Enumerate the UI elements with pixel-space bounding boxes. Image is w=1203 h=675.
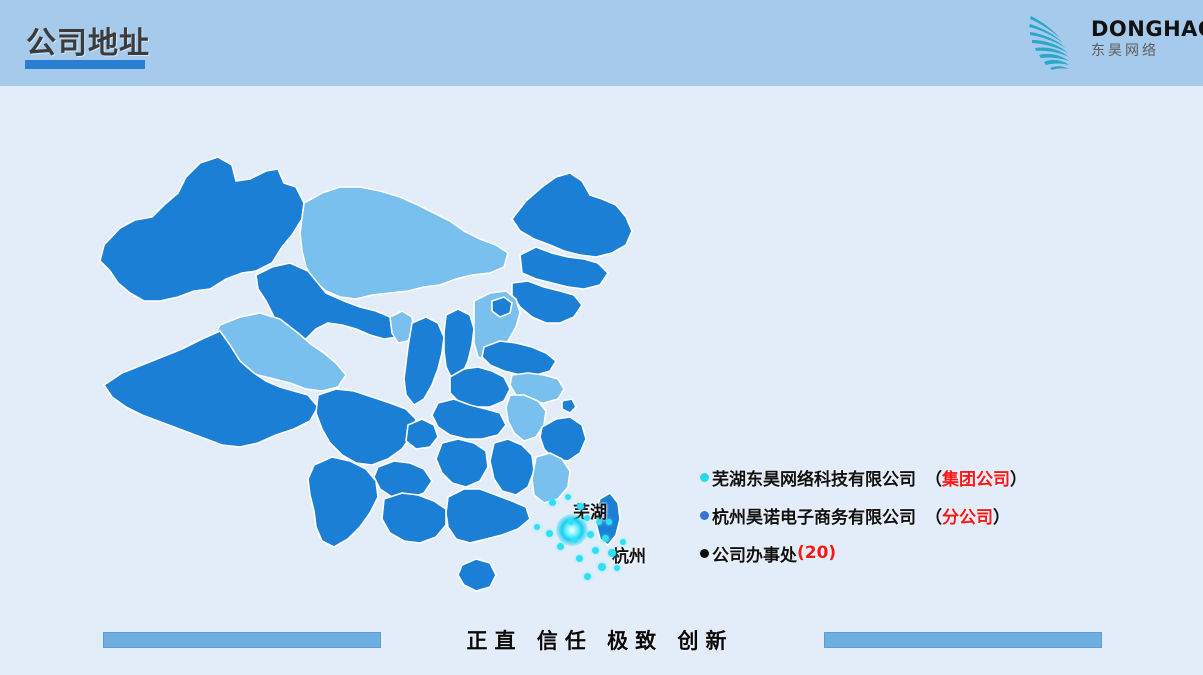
- province-guangdong: [446, 489, 530, 543]
- logo-name: DONGHAO: [1091, 18, 1191, 40]
- province-sichuan: [316, 389, 416, 465]
- legend-label: 杭州昊诺电子商务有限公司: [712, 503, 916, 528]
- legend-accent: 集团公司: [942, 465, 1010, 490]
- province-shandong: [482, 341, 556, 375]
- province-inner-mongolia: [300, 187, 508, 299]
- office-dot[interactable]: [606, 519, 612, 525]
- legend-item-group-company: 芜湖东昊网络科技有限公司 （ 集团公司 ）: [700, 458, 1170, 496]
- legend-bullet-cyan-icon: [700, 473, 709, 482]
- footer-bar-right: [824, 632, 1102, 648]
- legend-paren-close: ）: [1010, 465, 1027, 490]
- province-yunnan: [308, 457, 378, 547]
- header-band: 公司地址 DONGHAO: [0, 0, 1203, 86]
- legend-item-branch-company: 杭州昊诺电子商务有限公司 （ 分公司 ）: [700, 496, 1170, 534]
- legend-label: 芜湖东昊网络科技有限公司: [712, 465, 916, 490]
- china-map-svg: [60, 95, 720, 615]
- office-dot[interactable]: [568, 519, 574, 525]
- province-hunan: [436, 439, 488, 487]
- province-jiangxi: [490, 439, 534, 495]
- province-shaanxi: [404, 317, 444, 405]
- office-dot[interactable]: [598, 563, 606, 571]
- logo-text-block: DONGHAO 东昊网络: [1091, 18, 1191, 61]
- legend-paren-open: （: [925, 503, 942, 528]
- city-label-hangzhou: 杭州: [612, 542, 646, 567]
- footer-slogan: 正直 信任 极致 创新: [450, 625, 750, 655]
- logo-subtitle: 东昊网络: [1091, 41, 1191, 61]
- china-map: 芜湖 杭州: [60, 95, 720, 615]
- office-dot[interactable]: [577, 503, 584, 510]
- office-dot[interactable]: [576, 555, 583, 562]
- legend-accent: (20): [797, 543, 836, 563]
- legend-label: 公司办事处: [712, 541, 797, 566]
- legend-paren-open: （: [925, 465, 942, 490]
- office-dot[interactable]: [596, 519, 602, 525]
- title-underline: [25, 60, 145, 69]
- office-dot[interactable]: [620, 539, 626, 545]
- province-shanghai: [562, 399, 576, 413]
- office-dot[interactable]: [534, 524, 540, 530]
- office-dot[interactable]: [587, 531, 594, 538]
- legend-bullet-blue-icon: [700, 511, 709, 520]
- office-dot[interactable]: [557, 543, 564, 550]
- province-beijing: [492, 297, 512, 317]
- office-dot[interactable]: [614, 565, 620, 571]
- office-dot[interactable]: [584, 515, 590, 521]
- office-dot[interactable]: [572, 537, 578, 543]
- legend-bullet-black-icon: [700, 549, 709, 558]
- fan-wing-logo-icon: [1021, 10, 1089, 74]
- province-heilongjiang: [512, 173, 632, 257]
- office-dot[interactable]: [546, 530, 553, 537]
- province-chongqing: [406, 419, 438, 449]
- legend-accent: 分公司: [942, 503, 993, 528]
- office-dot[interactable]: [602, 535, 609, 542]
- legend-paren-close: ）: [993, 503, 1010, 528]
- office-dot[interactable]: [584, 573, 591, 580]
- province-hainan: [458, 559, 496, 591]
- legend: 芜湖东昊网络科技有限公司 （ 集团公司 ） 杭州昊诺电子商务有限公司 （ 分公司…: [700, 458, 1170, 572]
- office-dot[interactable]: [565, 494, 571, 500]
- footer-bar-left: [103, 632, 381, 648]
- company-logo: DONGHAO 东昊网络: [1021, 8, 1191, 76]
- office-dot[interactable]: [592, 547, 599, 554]
- office-dot[interactable]: [608, 549, 616, 557]
- page-title: 公司地址: [26, 18, 150, 62]
- office-dot[interactable]: [549, 499, 556, 506]
- slide-root: 公司地址 DONGHAO: [0, 0, 1203, 675]
- province-guangxi: [382, 493, 446, 543]
- legend-item-offices: 公司办事处 (20): [700, 534, 1170, 572]
